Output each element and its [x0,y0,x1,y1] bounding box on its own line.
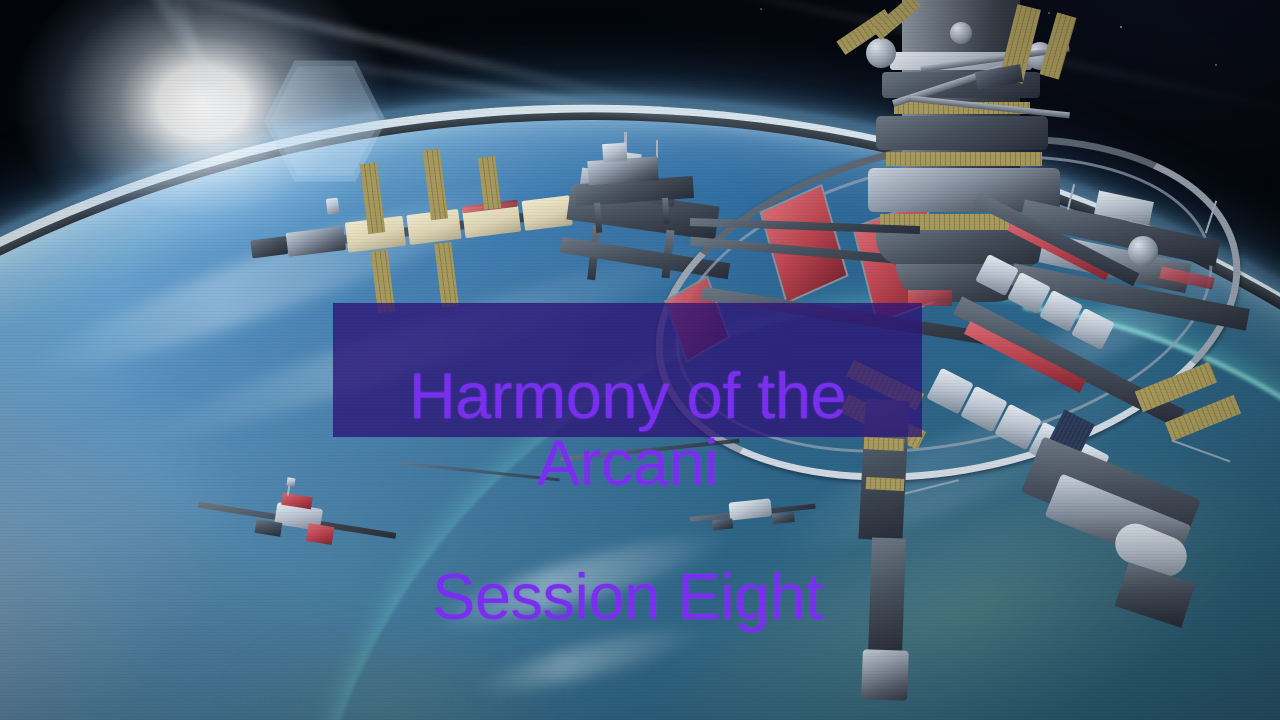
platform-strut [594,202,602,232]
antenna [1172,439,1231,462]
solar-panel [1040,12,1077,79]
craft-beacon [286,477,295,486]
platform-tower [602,143,627,163]
right-column-modules [960,250,1160,410]
hub-gold-band [886,152,1042,166]
truss-end-cap [250,236,288,258]
star [1215,64,1217,66]
arm-joint [975,64,1023,90]
platform-strut [662,198,670,224]
craft-panel [306,523,334,545]
title-line-1: Harmony of the Arcani [333,363,922,497]
solar-panel [1165,395,1241,441]
video-frame: Harmony of the Arcani Session Eight [0,0,1280,720]
truss-antenna-mount [326,197,340,214]
array-end-pod [1115,562,1196,627]
title-card-text: Harmony of the Arcani Session Eight [333,296,922,698]
craft-pod [255,519,283,537]
star [760,8,762,10]
upper-left-platform [572,136,698,234]
antenna [1205,201,1217,234]
truss-module [286,226,346,257]
docked-module-array [930,380,1280,710]
hub-radial-arms [880,20,1110,130]
title-line-2: Session Eight [333,564,922,631]
radial-arm [910,96,1070,119]
